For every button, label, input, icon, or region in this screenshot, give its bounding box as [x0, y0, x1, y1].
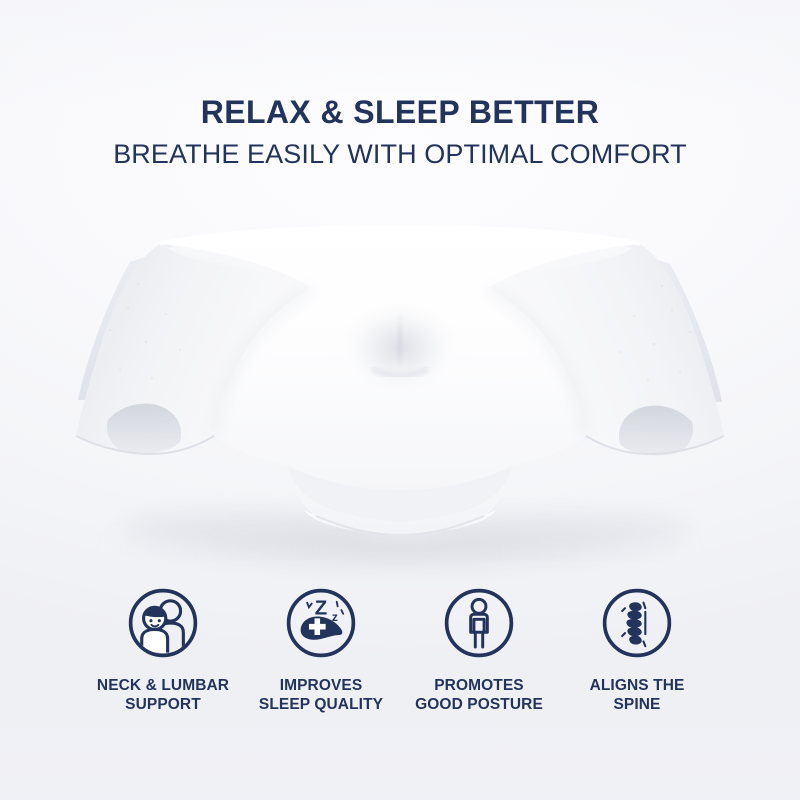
pillow-illustration: [0, 210, 800, 590]
svg-text:Z: Z: [315, 598, 327, 620]
feature-label: PROMOTES GOOD POSTURE: [415, 676, 543, 715]
product-image: [0, 210, 800, 590]
promotes-good-posture-icon: [442, 586, 516, 660]
aligns-the-spine-icon: [600, 586, 674, 660]
feature-label: ALIGNS THE SPINE: [590, 676, 685, 715]
page-subtitle: BREATHE EASILY WITH OPTIMAL COMFORT: [0, 140, 800, 169]
page-title: RELAX & SLEEP BETTER: [0, 96, 800, 130]
improves-sleep-quality-icon: Z z: [284, 586, 358, 660]
product-marketing-banner: RELAX & SLEEP BETTER BREATHE EASILY WITH…: [0, 0, 800, 800]
feature-label: IMPROVES SLEEP QUALITY: [259, 676, 383, 715]
headline-block: RELAX & SLEEP BETTER BREATHE EASILY WITH…: [0, 96, 800, 169]
neck-lumbar-support-icon: [126, 586, 200, 660]
feature-item-improves-sleep-quality[interactable]: Z z IMPROVES SLEEP QUALITY: [242, 586, 400, 715]
feature-item-neck-lumbar-support[interactable]: NECK & LUMBAR SUPPORT: [84, 586, 242, 715]
feature-item-promotes-good-posture[interactable]: PROMOTES GOOD POSTURE: [400, 586, 558, 715]
svg-text:z: z: [332, 610, 338, 624]
feature-list: NECK & LUMBAR SUPPORT Z z IMPROVES SLEEP…: [0, 586, 800, 715]
feature-label: NECK & LUMBAR SUPPORT: [97, 676, 229, 715]
feature-item-aligns-the-spine[interactable]: ALIGNS THE SPINE: [558, 586, 716, 715]
